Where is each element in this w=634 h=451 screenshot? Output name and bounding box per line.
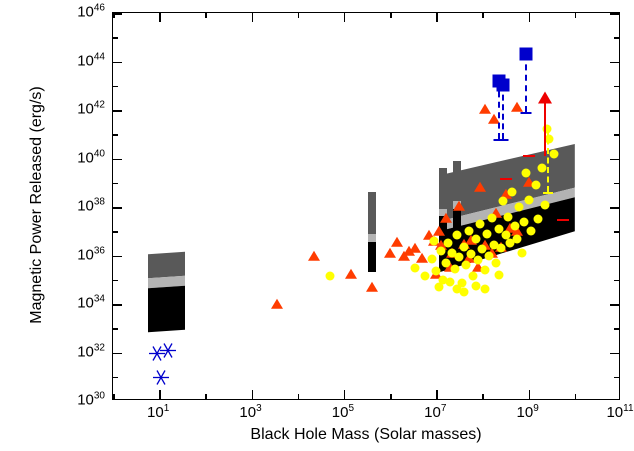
yellow-circle-39 — [515, 203, 524, 212]
blue-errorbar-cap-2 — [521, 112, 532, 114]
x-tick-5 — [344, 13, 346, 22]
y-tick-36 — [610, 256, 619, 258]
x-tick-9 — [529, 390, 531, 399]
y-tick-31 — [614, 377, 619, 379]
yellow-circle-40 — [520, 217, 529, 226]
plot-area — [113, 13, 619, 399]
x-tick-0 — [113, 394, 115, 399]
x-tick-8 — [482, 394, 484, 399]
x-tick-1 — [159, 13, 161, 22]
orange-triangle-20 — [474, 181, 486, 191]
x-axis-title: Black Hole Mass (Solar masses) — [112, 426, 620, 444]
y-tick-33 — [614, 328, 619, 330]
yellow-circle-41 — [522, 169, 531, 178]
blue-square-1 — [497, 78, 510, 91]
y-tick-42 — [610, 110, 619, 112]
yellow-circle-56 — [517, 249, 526, 258]
yellow-circle-48 — [545, 135, 554, 144]
yellow-circle-8 — [443, 239, 452, 248]
yellow-circle-54 — [429, 236, 438, 245]
blue-square-2 — [520, 48, 533, 61]
orange-triangle-32 — [391, 237, 403, 247]
yellow-circle-27 — [487, 213, 496, 222]
yellow-circle-24 — [480, 266, 489, 275]
yellow-circle-32 — [499, 196, 508, 205]
yellow-circle-22 — [476, 219, 485, 228]
y-tick-46 — [610, 13, 619, 15]
yellow-circle-37 — [510, 222, 519, 231]
orange-triangle-1 — [308, 251, 320, 261]
x-tick-7 — [436, 13, 438, 22]
plot-frame — [112, 12, 620, 400]
yellow-circle-42 — [524, 195, 533, 204]
y-tick-43 — [113, 86, 118, 88]
x-tick-6 — [390, 13, 392, 18]
yellow-circle-20 — [471, 234, 480, 243]
y-tick-32 — [113, 353, 122, 355]
blue-errorbar-1 — [502, 85, 504, 140]
model-column-0-dark-gray — [368, 192, 376, 234]
x-tick-4 — [298, 13, 300, 18]
yellow-circle-11 — [450, 264, 459, 273]
y-tick-32 — [610, 353, 619, 355]
yellow-circle-34 — [503, 212, 512, 221]
red-cap-1 — [500, 178, 512, 180]
yellow-circle-19 — [469, 272, 478, 281]
yellow-circle-47 — [540, 200, 549, 209]
model-column-0-black — [368, 242, 376, 272]
orange-triangle-12 — [440, 213, 452, 223]
yellow-circle-38 — [513, 234, 522, 243]
yellow-circle-12 — [453, 230, 462, 239]
yellow-circle-31 — [496, 244, 505, 253]
yellow-circle-5 — [436, 246, 445, 255]
yellow-circle-1 — [411, 263, 420, 272]
red-triangle-0 — [538, 92, 552, 104]
y-tick-34 — [610, 304, 619, 306]
red-cap-0 — [523, 155, 535, 157]
y-tick-38 — [113, 207, 122, 209]
x-tick-label-3: 103 — [239, 404, 261, 421]
y-tick-44 — [610, 62, 619, 64]
x-tick-2 — [205, 394, 207, 399]
orange-triangle-29 — [479, 104, 491, 114]
y-tick-44 — [113, 62, 122, 64]
yellow-circle-2 — [420, 272, 429, 281]
y-tick-45 — [113, 37, 118, 39]
y-tick-label-46: 1046 — [77, 4, 105, 21]
y-tick-label-40: 1040 — [77, 149, 105, 166]
y-tick-35 — [614, 280, 619, 282]
x-tick-label-7: 107 — [424, 404, 446, 421]
blue-errorbar-cap-1 — [498, 139, 509, 141]
yellow-circle-58 — [480, 285, 489, 294]
red-cap-2 — [557, 219, 569, 221]
yellow-circle-3 — [427, 255, 436, 264]
yellow-circle-16 — [462, 261, 471, 270]
y-tick-31 — [113, 377, 118, 379]
x-tick-label-1: 101 — [147, 404, 169, 421]
orange-triangle-33 — [403, 246, 415, 256]
model-column-0 — [368, 192, 376, 272]
yellow-circle-13 — [455, 252, 464, 261]
blue-asterisk-2 — [152, 369, 170, 392]
x-tick-6 — [390, 394, 392, 399]
orange-triangle-3 — [366, 282, 378, 292]
yellow-circle-21 — [473, 256, 482, 265]
y-tick-39 — [113, 183, 118, 185]
orange-triangle-2 — [345, 269, 357, 279]
x-tick-10 — [575, 394, 577, 399]
x-tick-4 — [298, 394, 300, 399]
yellow-circle-36 — [508, 188, 517, 197]
yellow-errorbar-cap — [543, 192, 553, 194]
blue-errorbar-2 — [525, 54, 527, 112]
y-tick-label-group: 103010321034103610381040104210441046 — [0, 0, 105, 451]
yellow-circle-45 — [533, 215, 542, 224]
y-tick-label-42: 1042 — [77, 101, 105, 118]
x-tick-label-9: 109 — [517, 404, 539, 421]
y-tick-35 — [113, 280, 118, 282]
y-tick-40 — [113, 159, 122, 161]
y-tick-label-32: 1032 — [77, 343, 105, 360]
x-tick-2 — [205, 13, 207, 18]
model-column-2-dark-gray — [453, 161, 461, 201]
y-tick-40 — [610, 159, 619, 161]
y-tick-label-34: 1034 — [77, 295, 105, 312]
figure-root: Magnetic Power Released (erg/s) 10301032… — [0, 0, 634, 451]
yellow-circle-29 — [492, 258, 501, 267]
y-tick-43 — [614, 86, 619, 88]
model-column-2 — [453, 161, 461, 239]
y-tick-45 — [614, 37, 619, 39]
y-tick-label-38: 1038 — [77, 198, 105, 215]
blue-asterisk-1 — [159, 341, 177, 364]
y-tick-46 — [113, 13, 122, 15]
yellow-circle-57 — [459, 287, 468, 296]
yellow-circle-44 — [531, 181, 540, 190]
x-tick-7 — [436, 390, 438, 399]
orange-triangle-15 — [453, 201, 465, 211]
yellow-circle-55 — [494, 270, 503, 279]
y-tick-39 — [614, 183, 619, 185]
y-tick-38 — [610, 207, 619, 209]
y-tick-label-44: 1044 — [77, 52, 105, 69]
x-tick-label-5: 105 — [332, 404, 354, 421]
y-tick-37 — [614, 231, 619, 233]
stellar-band-black — [148, 286, 185, 332]
yellow-circle-0 — [326, 272, 335, 281]
orange-triangle-30 — [511, 101, 523, 111]
y-tick-label-30: 1030 — [77, 392, 105, 409]
yellow-circle-7 — [441, 258, 450, 267]
y-tick-42 — [113, 110, 122, 112]
x-tick-3 — [252, 390, 254, 399]
x-tick-3 — [252, 13, 254, 22]
yellow-circle-50 — [550, 149, 559, 158]
y-tick-37 — [113, 231, 118, 233]
y-tick-33 — [113, 328, 118, 330]
y-tick-34 — [113, 304, 122, 306]
red-errorbar-0 — [544, 99, 546, 156]
yellow-circle-4 — [432, 267, 441, 276]
x-tick-5 — [344, 390, 346, 399]
y-tick-41 — [113, 134, 118, 136]
stellar-band-dark-gray — [148, 252, 185, 279]
y-tick-36 — [113, 256, 122, 258]
y-tick-41 — [614, 134, 619, 136]
yellow-circle-51 — [434, 283, 443, 292]
x-tick-label-11: 1011 — [606, 404, 633, 421]
yellow-circle-46 — [538, 164, 547, 173]
x-tick-9 — [529, 13, 531, 22]
model-column-0-light-gray — [368, 234, 376, 242]
x-tick-10 — [575, 13, 577, 18]
orange-triangle-4 — [384, 248, 396, 258]
yellow-circle-25 — [483, 229, 492, 238]
y-tick-label-36: 1036 — [77, 246, 105, 263]
model-column-1-dark-gray — [439, 168, 447, 208]
x-tick-8 — [482, 13, 484, 18]
yellow-circle-43 — [526, 227, 535, 236]
orange-triangle-0 — [271, 299, 283, 309]
orange-triangle-10 — [433, 226, 445, 236]
x-tick-1 — [159, 390, 161, 399]
yellow-circle-53 — [471, 281, 480, 290]
